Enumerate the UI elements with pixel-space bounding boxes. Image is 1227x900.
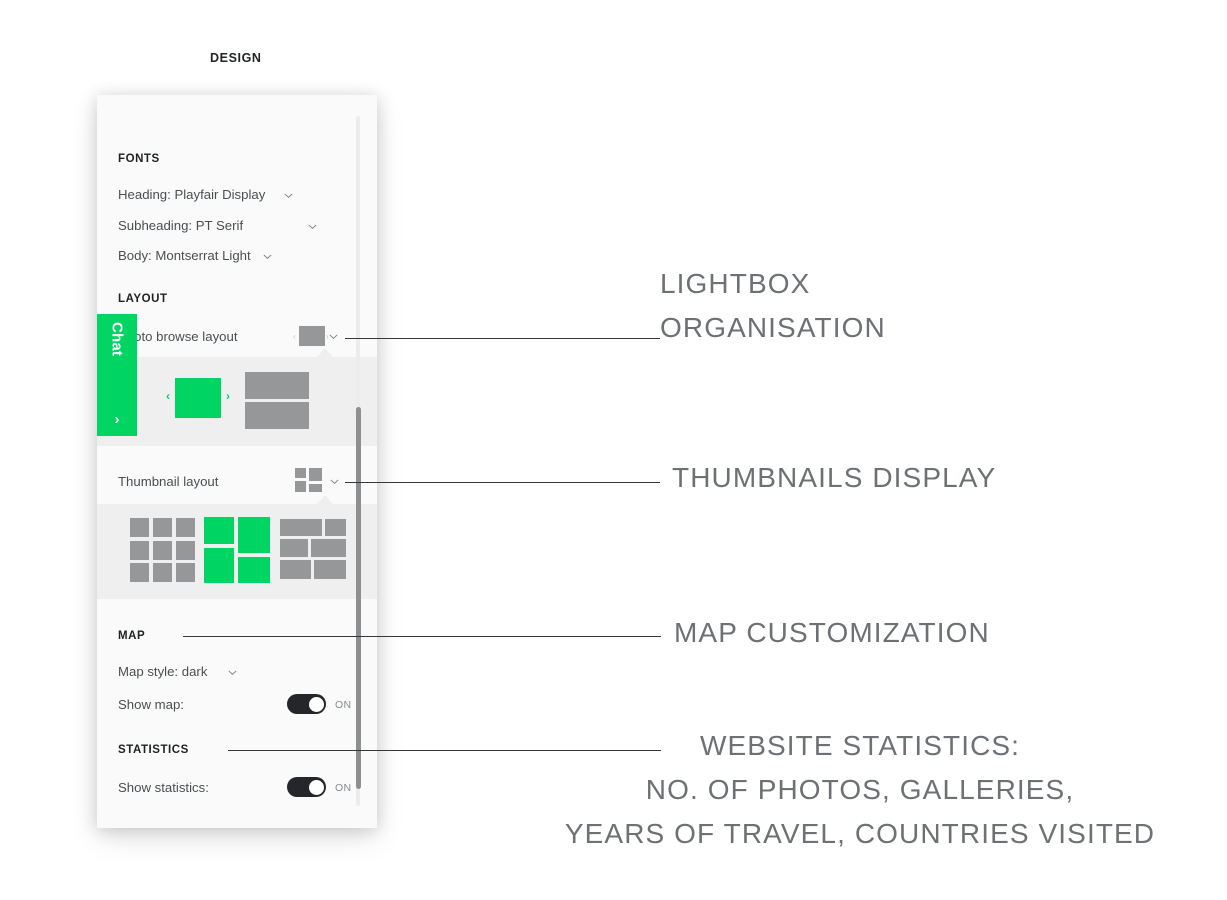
chat-tab-label: Chat (109, 322, 126, 356)
annotation-statistics: WEBSITE STATISTICS: NO. OF PHOTOS, GALLE… (560, 724, 1160, 857)
row-label-heading-font[interactable]: Heading: Playfair Display (118, 187, 265, 202)
chevron-down-icon[interactable] (307, 221, 318, 232)
chevron-down-icon[interactable] (227, 667, 238, 678)
stacked-option-row-1 (245, 372, 309, 399)
leader-line-thumbnails (345, 482, 660, 483)
masonry-thumbnail-option[interactable] (280, 519, 346, 581)
carousel-option-right-arrow-icon: › (226, 390, 230, 402)
section-heading-layout: LAYOUT (118, 293, 168, 305)
vertical-scrollbar-thumb[interactable] (356, 407, 361, 789)
row-label-subheading-font[interactable]: Subheading: PT Serif (118, 218, 243, 233)
thumbnail-options-strip (97, 504, 377, 599)
row-label-thumbnail-layout[interactable]: Thumbnail layout (118, 474, 218, 489)
leader-line-map (183, 636, 661, 637)
row-label-body-font[interactable]: Body: Montserrat Light (118, 248, 251, 263)
chat-tab[interactable]: Chat › (97, 314, 137, 436)
row-label-show-statistics[interactable]: Show statistics: (118, 780, 209, 795)
annotation-map: MAP CUSTOMIZATION (674, 611, 1194, 655)
carousel-layout-option[interactable]: ‹ › (166, 376, 230, 426)
carousel-option-preview (175, 378, 221, 418)
show-map-toggle[interactable] (287, 694, 326, 714)
mockup-canvas: DESIGN FONTS Heading: Playfair Display S… (0, 0, 1227, 900)
stacked-layout-option[interactable] (245, 372, 309, 430)
leader-line-lightbox (345, 338, 660, 339)
grid-thumbnail-option[interactable] (130, 518, 196, 582)
toggle-knob (309, 780, 324, 795)
chevron-right-icon: › (115, 412, 120, 427)
annotation-thumbnails: THUMBNAILS DISPLAY (672, 456, 1192, 500)
thumbnail-strip-notch (317, 495, 334, 504)
row-label-map-style[interactable]: Map style: dark (118, 664, 207, 679)
design-panel-scroll-area[interactable]: FONTS Heading: Playfair Display Subheadi… (97, 95, 377, 828)
carousel-icon[interactable]: ‹ › (293, 326, 331, 346)
chevron-down-icon[interactable] (328, 331, 339, 342)
mosaic-grid-icon[interactable] (295, 468, 322, 492)
chevron-down-icon[interactable] (283, 190, 294, 201)
show-map-toggle-state: ON (335, 699, 351, 711)
show-statistics-toggle[interactable] (287, 777, 326, 797)
carousel-option-left-arrow-icon: ‹ (166, 390, 170, 402)
page-title: DESIGN (210, 51, 262, 65)
design-panel: FONTS Heading: Playfair Display Subheadi… (97, 95, 377, 828)
mosaic-thumbnail-option[interactable] (204, 517, 270, 583)
toggle-knob (309, 697, 324, 712)
annotation-lightbox: LIGHTBOX ORGANISATION (660, 262, 1180, 350)
carousel-icon-box (299, 326, 325, 346)
carousel-left-arrow-icon: ‹ (293, 333, 298, 340)
show-statistics-toggle-state: ON (335, 782, 351, 794)
section-heading-statistics: STATISTICS (118, 744, 189, 756)
section-heading-fonts: FONTS (118, 153, 160, 165)
photo-browse-options-strip: ‹ › (97, 357, 377, 446)
chevron-down-icon[interactable] (262, 251, 273, 262)
stacked-option-row-2 (245, 402, 309, 429)
photo-browse-strip-notch (317, 348, 334, 357)
section-heading-map: MAP (118, 630, 145, 642)
row-label-show-map[interactable]: Show map: (118, 697, 184, 712)
chevron-down-icon[interactable] (329, 476, 340, 487)
